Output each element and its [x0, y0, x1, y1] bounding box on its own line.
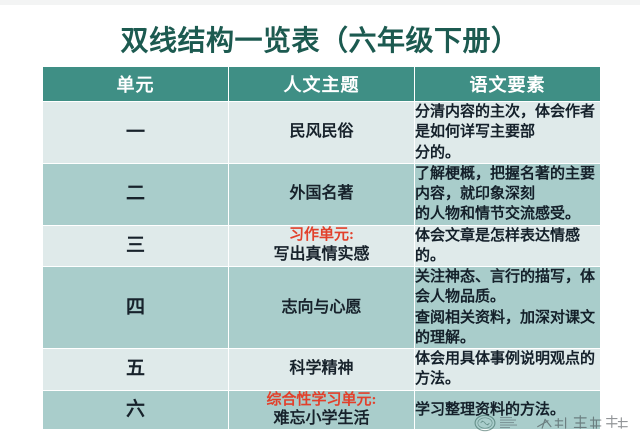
cell-theme: 科学精神	[229, 349, 414, 390]
theme-unit-tag: 综合性学习单元:	[229, 391, 414, 410]
table-row: 三习作单元:写出真情实感体会文章是怎样表达情感的。	[43, 226, 600, 267]
theme-title: 志向与心愿	[229, 298, 414, 318]
column-header-elements: 语文要素	[415, 67, 600, 101]
structure-table: 单元 人文主题 语文要素 一民风民俗分清内容的主次，体会作者是如何详写主要部分的…	[42, 66, 601, 430]
element-line: 体会文章是怎样表达情感的。	[415, 226, 600, 267]
cell-unit: 五	[43, 349, 228, 390]
cell-elements: 体会文章是怎样表达情感的。	[415, 226, 600, 267]
structure-table-container: 单元 人文主题 语文要素 一民风民俗分清内容的主次，体会作者是如何详写主要部分的…	[42, 66, 601, 403]
theme-title: 民风民俗	[229, 122, 414, 142]
element-line: 了解梗概，把握名著的主要内容，就印象深刻	[415, 164, 600, 205]
cell-elements: 关注神态、言行的描写，体会人物品质。查阅相关资料，加深对课文的理解。	[415, 267, 600, 348]
cell-unit: 六	[43, 391, 228, 430]
table-header-row: 单元 人文主题 语文要素	[43, 67, 600, 101]
cell-elements: 了解梗概，把握名著的主要内容，就印象深刻的人物和情节交流感受。	[415, 164, 600, 225]
table-row: 二外国名著了解梗概，把握名著的主要内容，就印象深刻的人物和情节交流感受。	[43, 164, 600, 225]
element-line: 关注神态、言行的描写，体会人物品质。	[415, 267, 600, 308]
column-header-theme: 人文主题	[229, 67, 414, 101]
publisher-calligraphy-icon	[528, 412, 634, 434]
theme-title: 外国名著	[229, 184, 414, 204]
cell-unit: 一	[43, 102, 228, 163]
cell-unit: 二	[43, 164, 228, 225]
slide-canvas: 双线结构一览表（六年级下册） 单元 人文主题 语文要素 一民风民俗分清内容的主次…	[0, 0, 640, 443]
element-line: 的人物和情节交流感受。	[415, 204, 600, 224]
theme-title: 写出真情实感	[229, 245, 414, 265]
publisher-watermark	[474, 409, 634, 437]
cell-unit: 三	[43, 226, 228, 267]
table-body: 一民风民俗分清内容的主次，体会作者是如何详写主要部分的。二外国名著了解梗概，把握…	[43, 102, 600, 429]
cell-theme: 志向与心愿	[229, 267, 414, 348]
cell-theme: 外国名著	[229, 164, 414, 225]
cell-elements: 分清内容的主次，体会作者是如何详写主要部分的。	[415, 102, 600, 163]
element-line: 体会用具体事例说明观点的方法。	[415, 349, 600, 390]
table-row: 五科学精神体会用具体事例说明观点的方法。	[43, 349, 600, 390]
table-header: 单元 人文主题 语文要素	[43, 67, 600, 101]
element-line: 分的。	[415, 143, 600, 163]
table-row: 一民风民俗分清内容的主次，体会作者是如何详写主要部分的。	[43, 102, 600, 163]
page-title: 双线结构一览表（六年级下册）	[0, 19, 640, 59]
theme-unit-tag: 习作单元:	[229, 226, 414, 245]
pep-logo-icon	[499, 414, 525, 432]
column-header-unit: 单元	[43, 67, 228, 101]
theme-title: 难忘小学生活	[229, 409, 414, 429]
cell-unit: 四	[43, 267, 228, 348]
cell-theme: 民风民俗	[229, 102, 414, 163]
element-line: 查阅相关资料，加深对课文的理解。	[415, 308, 600, 349]
table-row: 四志向与心愿关注神态、言行的描写，体会人物品质。查阅相关资料，加深对课文的理解。	[43, 267, 600, 348]
theme-title: 科学精神	[229, 359, 414, 379]
element-line: 分清内容的主次，体会作者是如何详写主要部	[415, 102, 600, 143]
cell-elements: 体会用具体事例说明观点的方法。	[415, 349, 600, 390]
cell-theme: 综合性学习单元:难忘小学生活	[229, 391, 414, 430]
circular-seal-icon	[474, 412, 496, 434]
cell-theme: 习作单元:写出真情实感	[229, 226, 414, 267]
top-edge-strip	[0, 0, 640, 5]
